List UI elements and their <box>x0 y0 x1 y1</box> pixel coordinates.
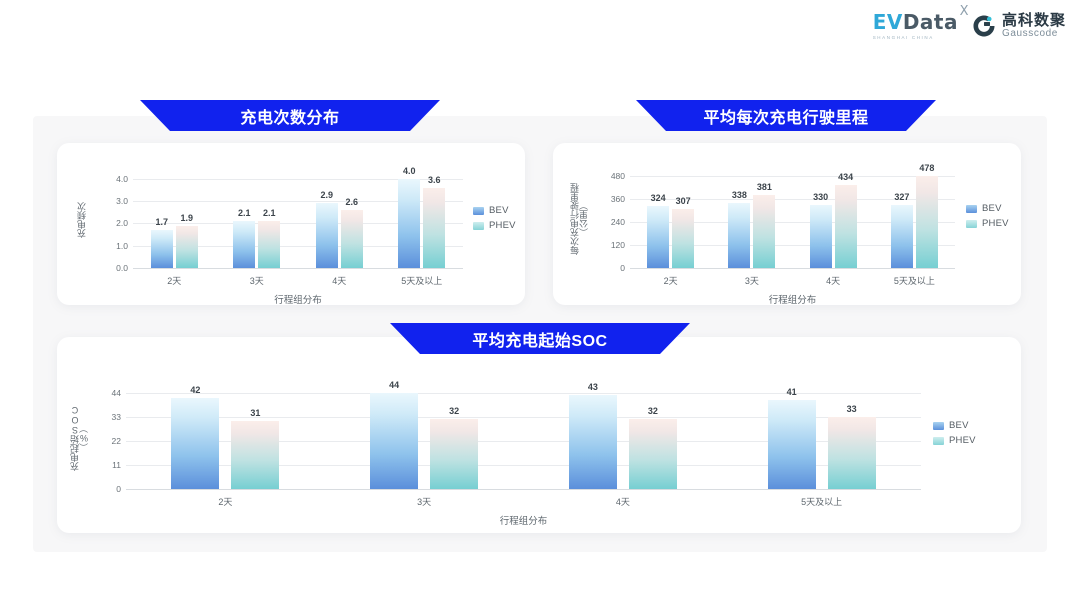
bar-value-label: 31 <box>250 408 260 418</box>
y-axis-label-line: （%） <box>80 424 89 452</box>
bar-phev <box>916 176 938 268</box>
header-logos: EVDataX SHANGHAI CHINA 高科数聚 Gausscode <box>873 12 1066 40</box>
gausscode-text: 高科数聚 Gausscode <box>1002 13 1066 39</box>
bar-value-label: 2.1 <box>238 208 251 218</box>
legend-swatch-icon <box>966 220 977 228</box>
y-axis-tick: 1.0 <box>99 241 128 251</box>
x-axis-label: 行程组分布 <box>274 292 322 306</box>
bar-bev <box>810 205 832 268</box>
bar-phev <box>672 209 694 268</box>
chart-avg-mileage: 每次充电行驶里程（公里）01202403604803243072天3383813… <box>568 155 1013 298</box>
bar-bev <box>891 205 913 268</box>
y-axis-tick: 240 <box>596 217 625 227</box>
chart-title-charging-frequency: 充电次数分布 <box>140 100 440 131</box>
legend-swatch-icon <box>473 207 484 215</box>
gausscode-en-name: Gausscode <box>1002 29 1066 40</box>
bar-value-label: 2.6 <box>345 197 358 207</box>
x-axis-tick: 5天及以上 <box>801 495 842 508</box>
bar-value-label: 327 <box>894 192 909 202</box>
chart-title-avg-mileage: 平均每次充电行驶里程 <box>636 100 936 131</box>
bar-bev <box>768 400 816 489</box>
dashboard-page: EVDataX SHANGHAI CHINA 高科数聚 Gausscode 充电… <box>0 0 1080 608</box>
x-axis-label: 行程组分布 <box>500 513 548 527</box>
legend-label: BEV <box>982 203 1002 214</box>
y-axis-tick: 33 <box>92 412 121 422</box>
bar-value-label: 434 <box>838 172 853 182</box>
bar-phev <box>835 185 857 268</box>
bar-value-label: 4.0 <box>403 166 416 176</box>
bar-value-label: 41 <box>787 387 797 397</box>
bar-value-label: 42 <box>190 385 200 395</box>
y-axis-label: 充电起始SOC（%） <box>68 386 92 489</box>
gridline <box>126 393 921 394</box>
x-axis-label: 行程组分布 <box>769 292 817 306</box>
y-axis-tick: 0 <box>92 484 121 494</box>
bar-phev <box>341 210 363 268</box>
x-axis-line <box>630 268 955 269</box>
y-axis-tick: 360 <box>596 194 625 204</box>
legend-swatch-icon <box>933 437 944 445</box>
bar-value-label: 33 <box>847 404 857 414</box>
y-axis-tick: 0.0 <box>99 263 128 273</box>
chart-legend: BEVPHEV <box>966 203 1009 229</box>
bar-value-label: 32 <box>648 406 658 416</box>
bar-value-label: 44 <box>389 380 399 390</box>
x-axis-tick: 4天 <box>616 495 630 508</box>
bar-bev <box>569 395 617 489</box>
gridline <box>630 176 955 177</box>
x-axis-tick: 2天 <box>218 495 232 508</box>
bar-value-label: 32 <box>449 406 459 416</box>
bar-value-label: 307 <box>676 196 691 206</box>
legend-item-phev[interactable]: PHEV <box>473 220 516 231</box>
chart-title-avg-start-soc: 平均充电起始SOC <box>390 323 690 354</box>
bar-phev <box>258 221 280 268</box>
y-axis-tick: 22 <box>92 436 121 446</box>
bar-bev <box>316 203 338 268</box>
y-axis-label-line: （公里） <box>580 201 589 237</box>
legend-label: PHEV <box>982 218 1009 229</box>
evdata-x-icon: X <box>960 5 969 18</box>
bar-value-label: 381 <box>757 182 772 192</box>
gausscode-cn-name: 高科数聚 <box>1002 13 1066 29</box>
x-axis-tick: 2天 <box>167 274 181 287</box>
bar-value-label: 1.7 <box>155 217 168 227</box>
x-axis-line <box>133 268 463 269</box>
legend-item-phev[interactable]: PHEV <box>966 218 1009 229</box>
legend-item-bev[interactable]: BEV <box>966 203 1009 214</box>
bar-bev <box>728 203 750 268</box>
gausscode-logo: 高科数聚 Gausscode <box>972 13 1066 39</box>
evdata-subtitle: SHANGHAI CHINA <box>873 35 934 40</box>
legend-label: BEV <box>489 205 509 216</box>
y-axis-tick: 3.0 <box>99 196 128 206</box>
bar-phev <box>753 195 775 268</box>
legend-label: PHEV <box>949 435 976 446</box>
bar-value-label: 43 <box>588 382 598 392</box>
bar-phev <box>423 188 445 268</box>
x-axis-tick: 3天 <box>745 274 759 287</box>
bar-bev <box>171 398 219 489</box>
y-axis-tick: 120 <box>596 240 625 250</box>
bar-value-label: 2.9 <box>320 190 333 200</box>
x-axis-tick: 5天及以上 <box>894 274 935 287</box>
legend-swatch-icon <box>966 205 977 213</box>
x-axis-tick: 4天 <box>332 274 346 287</box>
bar-value-label: 330 <box>813 192 828 202</box>
bar-value-label: 324 <box>651 193 666 203</box>
y-axis-tick: 44 <box>92 388 121 398</box>
legend-item-phev[interactable]: PHEV <box>933 435 976 446</box>
x-axis-tick: 3天 <box>250 274 264 287</box>
bar-phev <box>231 421 279 489</box>
y-axis-label: 每次充电行驶里程（公里） <box>568 169 592 268</box>
gausscode-g-icon <box>972 14 996 38</box>
y-axis-tick: 2.0 <box>99 218 128 228</box>
chart-legend: BEVPHEV <box>473 205 516 231</box>
x-axis-tick: 4天 <box>826 274 840 287</box>
evdata-data-text: Data <box>903 10 958 34</box>
legend-swatch-icon <box>473 222 484 230</box>
evdata-logo: EVDataX SHANGHAI CHINA <box>873 12 958 40</box>
x-axis-line <box>126 489 921 490</box>
chart-legend: BEVPHEV <box>933 420 976 446</box>
x-axis-tick: 5天及以上 <box>401 274 442 287</box>
legend-item-bev[interactable]: BEV <box>473 205 516 216</box>
y-axis-label-line: 充电频次 <box>78 202 87 238</box>
bar-bev <box>370 393 418 489</box>
x-axis-tick: 2天 <box>664 274 678 287</box>
x-axis-tick: 3天 <box>417 495 431 508</box>
bar-value-label: 3.6 <box>428 175 441 185</box>
legend-label: PHEV <box>489 220 516 231</box>
bar-bev <box>151 230 173 268</box>
bar-phev <box>828 417 876 489</box>
evdata-wordmark: EVDataX <box>873 12 958 32</box>
bar-phev <box>430 419 478 489</box>
y-axis-tick: 4.0 <box>99 174 128 184</box>
legend-swatch-icon <box>933 422 944 430</box>
chart-avg-start-soc: 充电起始SOC（%）01122334442312天44323天43324天413… <box>68 372 1018 525</box>
y-axis-tick: 11 <box>92 460 121 470</box>
evdata-ev-text: EV <box>873 10 903 34</box>
bar-value-label: 478 <box>919 163 934 173</box>
bar-phev <box>629 419 677 489</box>
bar-bev <box>647 206 669 268</box>
bar-bev <box>398 179 420 268</box>
bar-bev <box>233 221 255 268</box>
bar-value-label: 1.9 <box>180 213 193 223</box>
y-axis-tick: 480 <box>596 171 625 181</box>
legend-label: BEV <box>949 420 969 431</box>
bar-phev <box>176 226 198 268</box>
y-axis-tick: 0 <box>596 263 625 273</box>
bar-value-label: 338 <box>732 190 747 200</box>
y-axis-label: 充电频次 <box>75 172 89 268</box>
chart-charging-frequency: 充电频次0.01.02.03.04.01.71.92天2.12.13天2.92.… <box>75 158 515 298</box>
legend-item-bev[interactable]: BEV <box>933 420 976 431</box>
bar-value-label: 2.1 <box>263 208 276 218</box>
